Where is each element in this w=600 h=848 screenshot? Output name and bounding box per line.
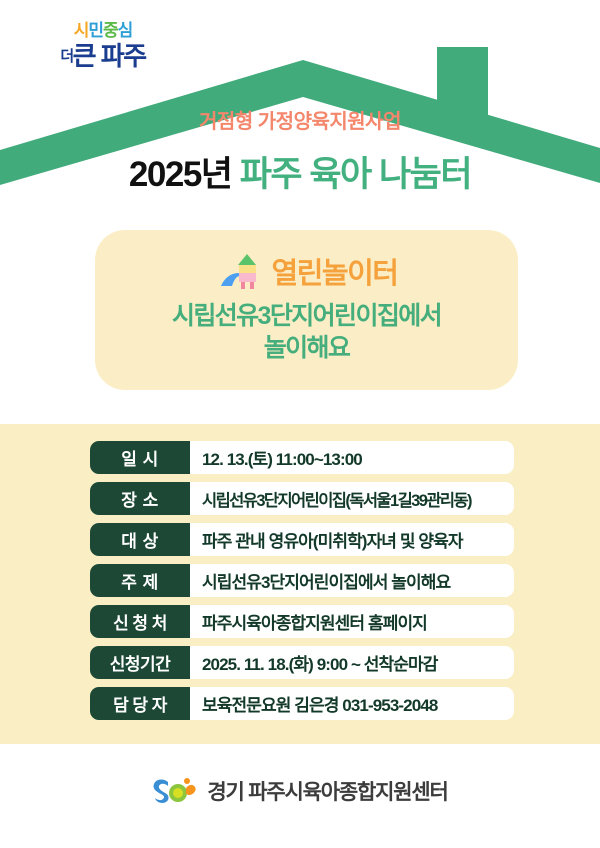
row-label-target: 대 상 (90, 523, 190, 556)
city-logo-line2: 더큰 파주 (38, 43, 168, 69)
table-row: 장 소 시립선유3단지어린이집(독서울1길39관리동) (90, 482, 514, 515)
table-row: 주 제 시립선유3단지어린이집에서 놀이해요 (90, 564, 514, 597)
row-value-application-site: 파주시육아종합지원센터 홈페이지 (190, 605, 514, 638)
row-label-datetime: 일 시 (90, 441, 190, 474)
row-label-place: 장 소 (90, 482, 190, 515)
page-title: 2025년 파주 육아 나눔터 (0, 146, 600, 197)
card-title: 열린놀이터 (272, 250, 398, 292)
city-logo-main: 큰 파주 (73, 41, 146, 71)
card-subtitle: 시립선유3단지어린이집에서 놀이해요 (111, 300, 502, 364)
row-value-contact: 보육전문요원 김은경 031-953-2048 (190, 687, 514, 720)
row-value-datetime: 12. 13.(토) 11:00~13:00 (190, 441, 514, 474)
city-logo-prefix: 더 (60, 48, 72, 65)
row-label-contact: 담 당 자 (90, 687, 190, 720)
program-kicker: 거점형 가정양육지원사업 (0, 105, 600, 134)
table-row: 일 시 12. 13.(토) 11:00~13:00 (90, 441, 514, 474)
card-subtitle-line1: 시립선유3단지어린이집에서 (172, 302, 441, 330)
poster-canvas: 시민중심 더큰 파주 거점형 가정양육지원사업 2025년 파주 육아 나눔터 … (0, 0, 600, 848)
row-label-application-site: 신 청 처 (90, 605, 190, 638)
info-table: 일 시 12. 13.(토) 11:00~13:00 장 소 시립선유3단지어린… (90, 441, 514, 728)
table-row: 신청기간 2025. 11. 18.(화) 9:00 ~ 선착순마감 (90, 646, 514, 679)
row-value-place: 시립선유3단지어린이집(독서울1길39관리동) (190, 482, 514, 515)
paju-city-logo: 시민중심 더큰 파주 (38, 22, 168, 80)
playground-slide-icon (216, 251, 270, 291)
row-value-application-period: 2025. 11. 18.(화) 9:00 ~ 선착순마감 (190, 646, 514, 679)
table-row: 대 상 파주 관내 영유아(미취학)자녀 및 양육자 (90, 523, 514, 556)
title-year: 2025년 (129, 155, 232, 194)
city-logo-line1: 시민중심 (38, 22, 168, 39)
card-title-row: 열린놀이터 (95, 250, 518, 292)
table-row: 신 청 처 파주시육아종합지원센터 홈페이지 (90, 605, 514, 638)
table-row: 담 당 자 보육전문요원 김은경 031-953-2048 (90, 687, 514, 720)
row-value-topic: 시립선유3단지어린이집에서 놀이해요 (190, 564, 514, 597)
title-main: 파주 육아 나눔터 (240, 155, 471, 194)
row-label-topic: 주 제 (90, 564, 190, 597)
row-label-application-period: 신청기간 (90, 646, 190, 679)
card-subtitle-line2: 놀이해요 (264, 334, 350, 362)
footer: 경기 파주시육아종합지원센터 (0, 776, 600, 806)
paju-childcare-center-logo (152, 776, 198, 806)
footer-organization: 경기 파주시육아종합지원센터 (207, 776, 447, 806)
program-highlight-card: 열린놀이터 시립선유3단지어린이집에서 놀이해요 (95, 230, 518, 390)
row-value-target: 파주 관내 영유아(미취학)자녀 및 양육자 (190, 523, 514, 556)
